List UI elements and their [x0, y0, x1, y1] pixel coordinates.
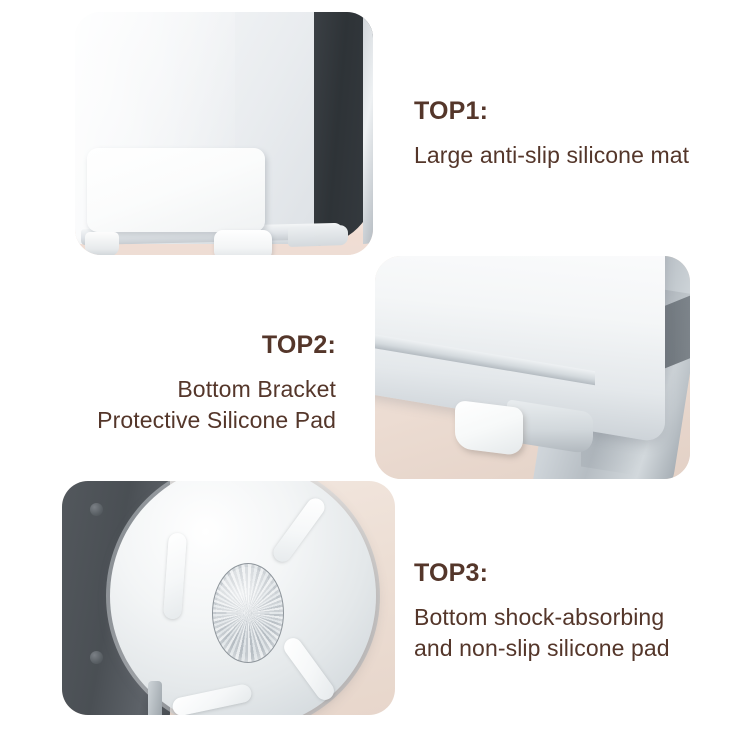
- feature-heading-top1: TOP1:: [414, 96, 714, 126]
- panel1-laptop-edge-chamfer: [363, 12, 373, 244]
- feature-description-top2-line2: Protective Silicone Pad: [36, 405, 336, 436]
- feature-description-top3-line1: Bottom shock-absorbing: [414, 602, 724, 633]
- feature-text-top1: TOP1: Large anti-slip silicone mat: [414, 96, 714, 171]
- feature-photo-top1: [75, 12, 373, 255]
- panel1-stand-foot-center: [214, 230, 272, 255]
- panel3-screw-top: [90, 503, 103, 516]
- feature-heading-top2: TOP2:: [36, 330, 336, 360]
- feature-photo-top2: [375, 256, 690, 479]
- feature-photo-top3: [62, 481, 395, 715]
- panel1-stand-foot-left: [85, 232, 119, 255]
- feature-text-top2: TOP2: Bottom Bracket Protective Silicone…: [36, 330, 336, 437]
- feature-description-top3-line2: and non-slip silicone pad: [414, 633, 724, 664]
- panel2-protective-silicone-pad: [455, 400, 523, 456]
- feature-description-top2-line1: Bottom Bracket: [36, 374, 336, 405]
- panel3-hinge-stem: [148, 681, 162, 715]
- panel1-stand-foot-right: [288, 225, 348, 247]
- panel3-screw-bottom: [90, 651, 103, 664]
- feature-text-top3: TOP3: Bottom shock-absorbing and non-sli…: [414, 558, 724, 665]
- feature-heading-top3: TOP3:: [414, 558, 724, 588]
- panel1-large-silicone-mat: [87, 148, 265, 232]
- infographic-stage: TOP1: Large anti-slip silicone mat TOP2:…: [0, 0, 750, 750]
- feature-description-top1: Large anti-slip silicone mat: [414, 140, 714, 171]
- panel3-cap-gloss: [216, 567, 278, 655]
